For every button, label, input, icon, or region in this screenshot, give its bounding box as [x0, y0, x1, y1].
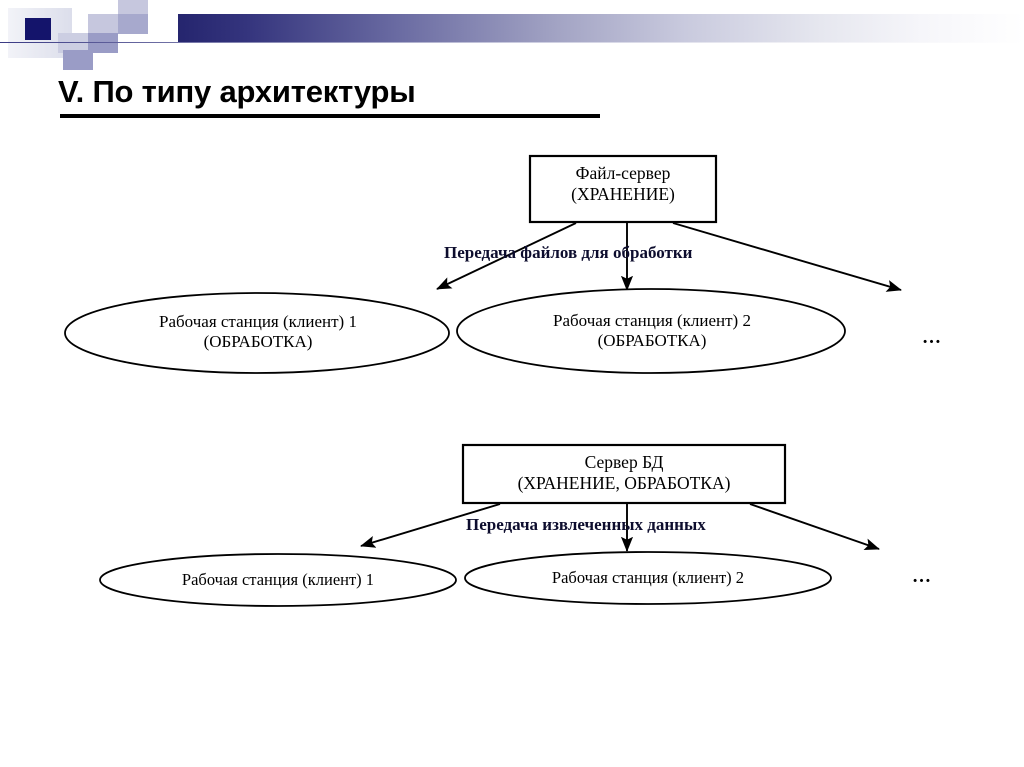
more-clients-indicator-bottom: …	[912, 566, 932, 588]
workstation-2-line1: Рабочая станция (клиент) 2	[458, 311, 846, 331]
workstation-3-line1: Рабочая станция (клиент) 1	[102, 570, 454, 589]
workstation-1-line2: (ОБРАБОТКА)	[66, 332, 450, 352]
file-server-label: Файл-сервер (ХРАНЕНИЕ)	[530, 163, 716, 204]
slide-canvas: V. По типу архитектуры Файл-сервер (ХРАН…	[0, 0, 1024, 767]
db-server-line2: (ХРАНЕНИЕ, ОБРАБОТКА)	[463, 473, 785, 494]
workstation-4-label: Рабочая станция (клиент) 2	[468, 568, 828, 587]
workstation-2-label: Рабочая станция (клиент) 2 (ОБРАБОТКА)	[458, 311, 846, 351]
workstation-1-line1: Рабочая станция (клиент) 1	[66, 312, 450, 332]
more-clients-indicator-top: …	[922, 327, 942, 349]
edge-label-data-transfer: Передача извлеченных данных	[466, 515, 706, 535]
workstation-4-line1: Рабочая станция (клиент) 2	[468, 568, 828, 587]
db-server-label: Сервер БД (ХРАНЕНИЕ, ОБРАБОТКА)	[463, 452, 785, 493]
architecture-diagram	[0, 0, 1024, 767]
arrow-dbserver-to-more	[750, 504, 879, 549]
workstation-1-label: Рабочая станция (клиент) 1 (ОБРАБОТКА)	[66, 312, 450, 352]
edge-label-file-transfer: Передача файлов для обработки	[444, 243, 692, 263]
file-server-line2: (ХРАНЕНИЕ)	[530, 184, 716, 205]
workstation-3-label: Рабочая станция (клиент) 1	[102, 570, 454, 589]
file-server-line1: Файл-сервер	[530, 163, 716, 184]
workstation-2-line2: (ОБРАБОТКА)	[458, 331, 846, 351]
db-server-line1: Сервер БД	[463, 452, 785, 473]
arrow-fileserver-to-more	[673, 223, 901, 290]
